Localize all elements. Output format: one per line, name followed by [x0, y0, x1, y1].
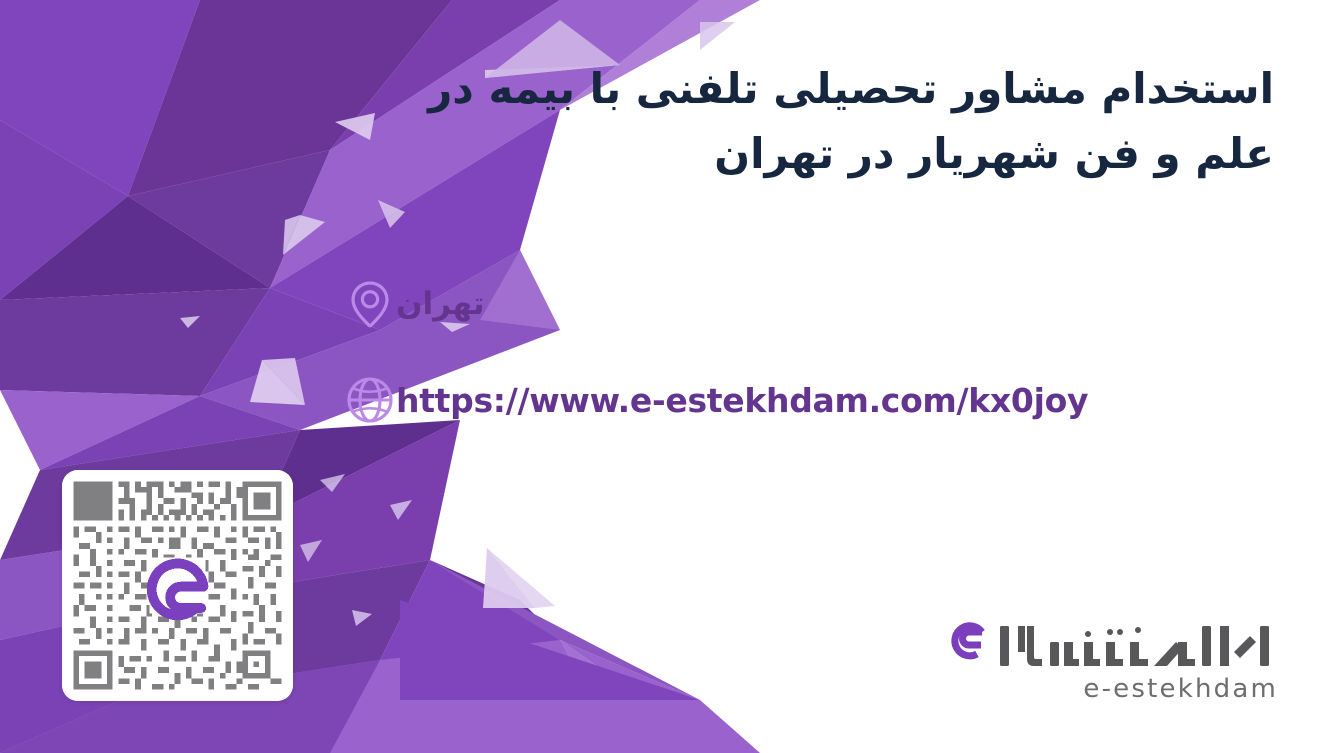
logo-farsi-wordmark	[1000, 626, 1269, 666]
qr-code-card[interactable]	[62, 470, 293, 701]
logo-subtitle: e-estekhdam	[938, 674, 1278, 704]
page-title: استخدام مشاور تحصیلی تلفنی با بیمه در عل…	[344, 56, 1274, 186]
qr-code-image[interactable]	[62, 470, 293, 701]
job-banner: استخدام مشاور تحصیلی تلفنی با بیمه در عل…	[0, 0, 1340, 753]
logo-e-mark	[955, 626, 982, 656]
location-value: تهران	[396, 289, 484, 320]
website-url[interactable]: https://www.e-estekhdam.com/kx0joy	[396, 384, 1088, 417]
location-row: تهران	[344, 278, 1274, 330]
website-row: https://www.e-estekhdam.com/kx0joy	[344, 374, 1274, 426]
brand-logo: e-estekhdam	[938, 612, 1278, 714]
brand-logo-wordmark	[938, 612, 1278, 672]
globe-icon	[344, 374, 396, 426]
map-pin-icon	[344, 278, 396, 330]
